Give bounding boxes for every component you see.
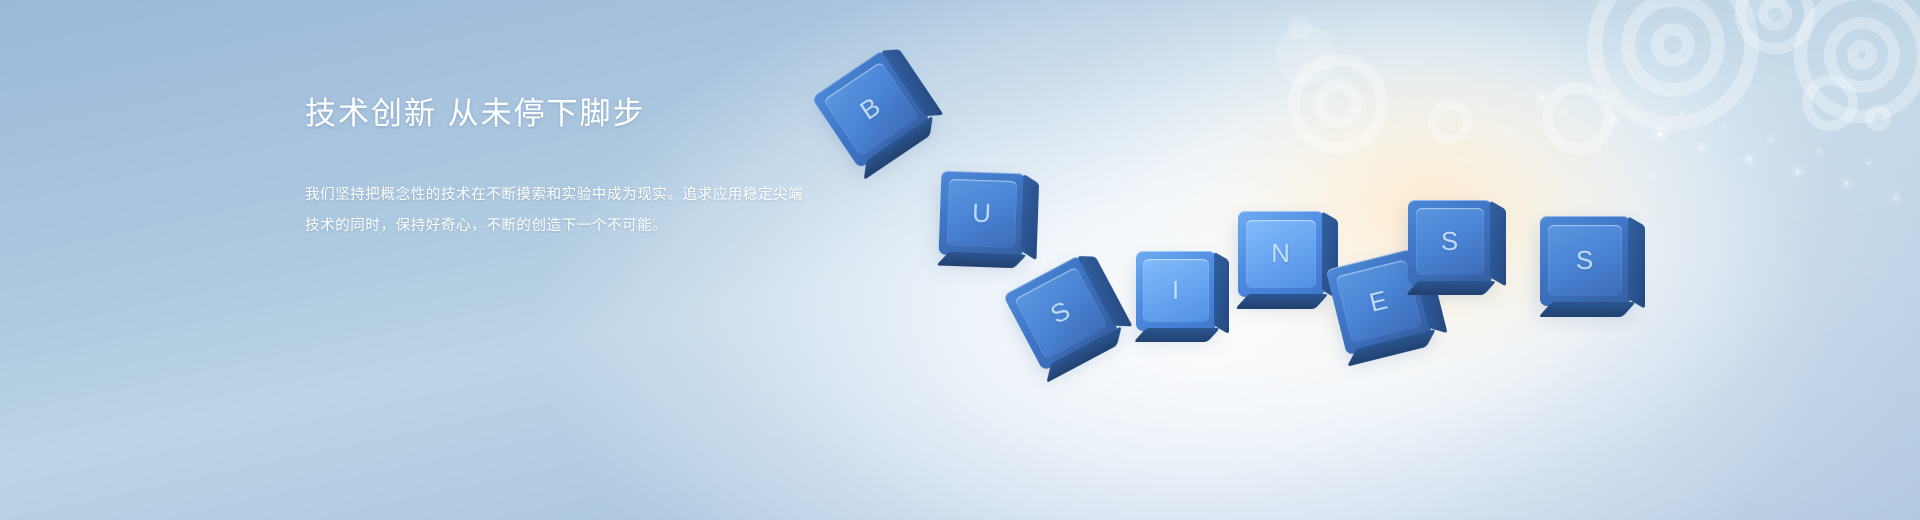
keycap-s-3[interactable]: S xyxy=(1540,216,1630,306)
keycap-letter: E xyxy=(1366,284,1391,319)
keycap-top-surface: S xyxy=(1416,208,1485,274)
hero-banner: BUSINESS 技术创新 从未停下脚步 我们坚持把概念性的技术在不断摸索和实验… xyxy=(0,0,1920,520)
sparkle-particle xyxy=(1680,112,1682,114)
decorative-ring xyxy=(1587,0,1759,131)
keycap-s-2[interactable]: S xyxy=(1408,200,1492,284)
page-title: 技术创新 从未停下脚步 xyxy=(305,92,1005,136)
keycap-letter: I xyxy=(1172,275,1180,306)
description-line-2: 技术的同时，保持好奇心，不断的创造下一个不可能。 xyxy=(305,211,1005,242)
sparkle-particle xyxy=(1818,150,1820,152)
keycap-top-surface: S xyxy=(1548,225,1622,296)
keycap-side-face xyxy=(1021,174,1039,261)
keycap-face: N xyxy=(1238,211,1324,297)
sparkle-particle xyxy=(1658,132,1662,136)
keycap-bottom-face xyxy=(1538,302,1635,317)
keycap-letter: S xyxy=(1576,245,1594,276)
keycap-n[interactable]: N xyxy=(1238,211,1324,297)
sparkle-particle xyxy=(1636,100,1638,102)
keycap-side-face xyxy=(1628,216,1645,309)
keycap-face: S xyxy=(1540,216,1630,306)
sparkle-particle xyxy=(1562,110,1564,112)
sparkle-particle xyxy=(1612,118,1615,121)
keycap-bottom-face xyxy=(1406,281,1497,295)
keycap-group: BUSINESS xyxy=(0,0,1920,520)
decorative-ring xyxy=(1651,23,1695,67)
decorative-ring xyxy=(1758,0,1792,31)
sparkle-particle xyxy=(1598,150,1600,152)
keycap-bottom-face xyxy=(1236,294,1329,309)
keycap-i[interactable]: I xyxy=(1136,251,1216,331)
keycap-top-surface: I xyxy=(1143,259,1209,322)
keycap-s-1[interactable]: S xyxy=(1003,255,1119,371)
description-line-1: 我们坚持把概念性的技术在不断摸索和实验中成为现实。追求应用稳定尖端 xyxy=(305,180,1005,211)
banner-copy: 技术创新 从未停下脚步 我们坚持把概念性的技术在不断摸索和实验中成为现实。追求应… xyxy=(305,92,1005,242)
keycap-side-face xyxy=(1490,200,1506,286)
decorative-ring xyxy=(1735,0,1815,54)
sparkle-particle xyxy=(1748,158,1751,161)
sparkle-particle xyxy=(1796,170,1799,173)
keycap-letter: S xyxy=(1045,295,1076,331)
keycap-side-face xyxy=(1214,251,1229,333)
decorative-ring xyxy=(1802,75,1858,131)
decorative-ring xyxy=(1428,100,1472,144)
banner-description: 我们坚持把概念性的技术在不断摸索和实验中成为现实。追求应用稳定尖端 技术的同时，… xyxy=(305,180,1005,242)
decorative-disc xyxy=(1276,25,1336,85)
decorative-disc xyxy=(1746,0,1786,22)
sparkle-particle xyxy=(1894,196,1897,199)
sparkle-particle xyxy=(1724,126,1726,128)
sparkle-particle xyxy=(1506,130,1508,132)
decorative-ring xyxy=(1794,0,1920,123)
keycap-face: I xyxy=(1136,251,1216,331)
decorative-ring xyxy=(1824,17,1900,93)
decorative-ring xyxy=(1542,82,1614,154)
keycap-bottom-face xyxy=(1134,328,1221,342)
decorative-disc xyxy=(1288,15,1312,39)
sparkle-particle xyxy=(1868,162,1870,164)
sparkle-particle xyxy=(1700,146,1703,149)
decorative-ring xyxy=(1621,0,1725,97)
keycap-letter: S xyxy=(1441,226,1459,257)
sparkle-particle xyxy=(1845,182,1848,185)
decorative-ring xyxy=(1847,40,1877,70)
sparkle-particle xyxy=(1588,88,1590,90)
sparkle-particle xyxy=(1652,176,1654,178)
decorative-ring xyxy=(1288,54,1388,154)
keycap-bottom-face xyxy=(936,252,1027,269)
keycap-top-surface: N xyxy=(1246,220,1317,288)
keycap-face: S xyxy=(1003,255,1119,371)
sparkle-particle xyxy=(1482,108,1484,110)
sparkle-particle xyxy=(1540,96,1543,99)
decorative-ring xyxy=(1865,105,1891,131)
keycap-letter: N xyxy=(1271,238,1291,269)
sparkle-particle xyxy=(1770,138,1772,140)
keycap-face: S xyxy=(1408,200,1492,284)
decorative-ring xyxy=(1314,80,1362,128)
